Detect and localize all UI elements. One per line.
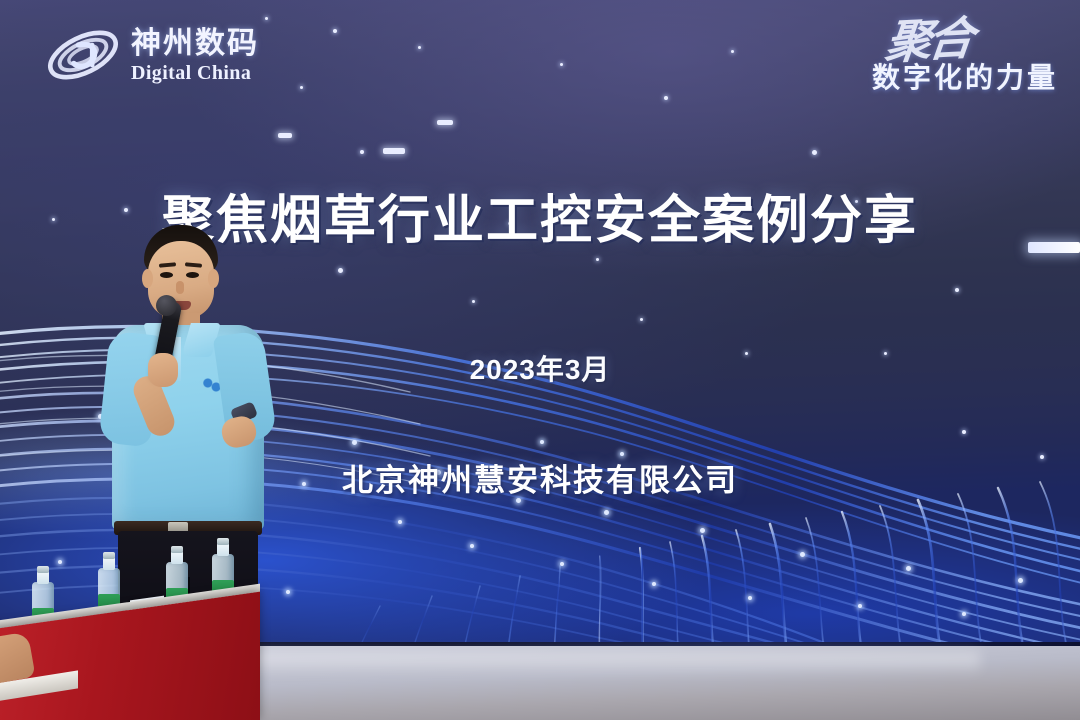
speaker-hand-left xyxy=(148,353,178,387)
juhe-logo: 聚合 数字化的力量 xyxy=(788,18,1058,116)
conference-stage-photo: 神州数码 Digital China 聚合 数字化的力量 聚焦烟草行业工控安全案… xyxy=(0,0,1080,720)
digital-china-name-cn: 神州数码 xyxy=(131,29,259,59)
speaker-eye-left xyxy=(160,272,173,278)
speaker-ear-left xyxy=(142,269,153,288)
digital-china-name-en: Digital China xyxy=(131,63,259,83)
speaker-eye-right xyxy=(186,272,199,278)
digital-china-logo: 神州数码 Digital China xyxy=(44,16,274,94)
foreground-panel-table xyxy=(0,560,280,720)
speaker-ear-right xyxy=(208,269,219,288)
speaker-nose xyxy=(176,281,184,294)
juhe-calligraphy: 聚合 xyxy=(785,18,973,70)
digital-china-spiral-icon xyxy=(44,22,122,88)
